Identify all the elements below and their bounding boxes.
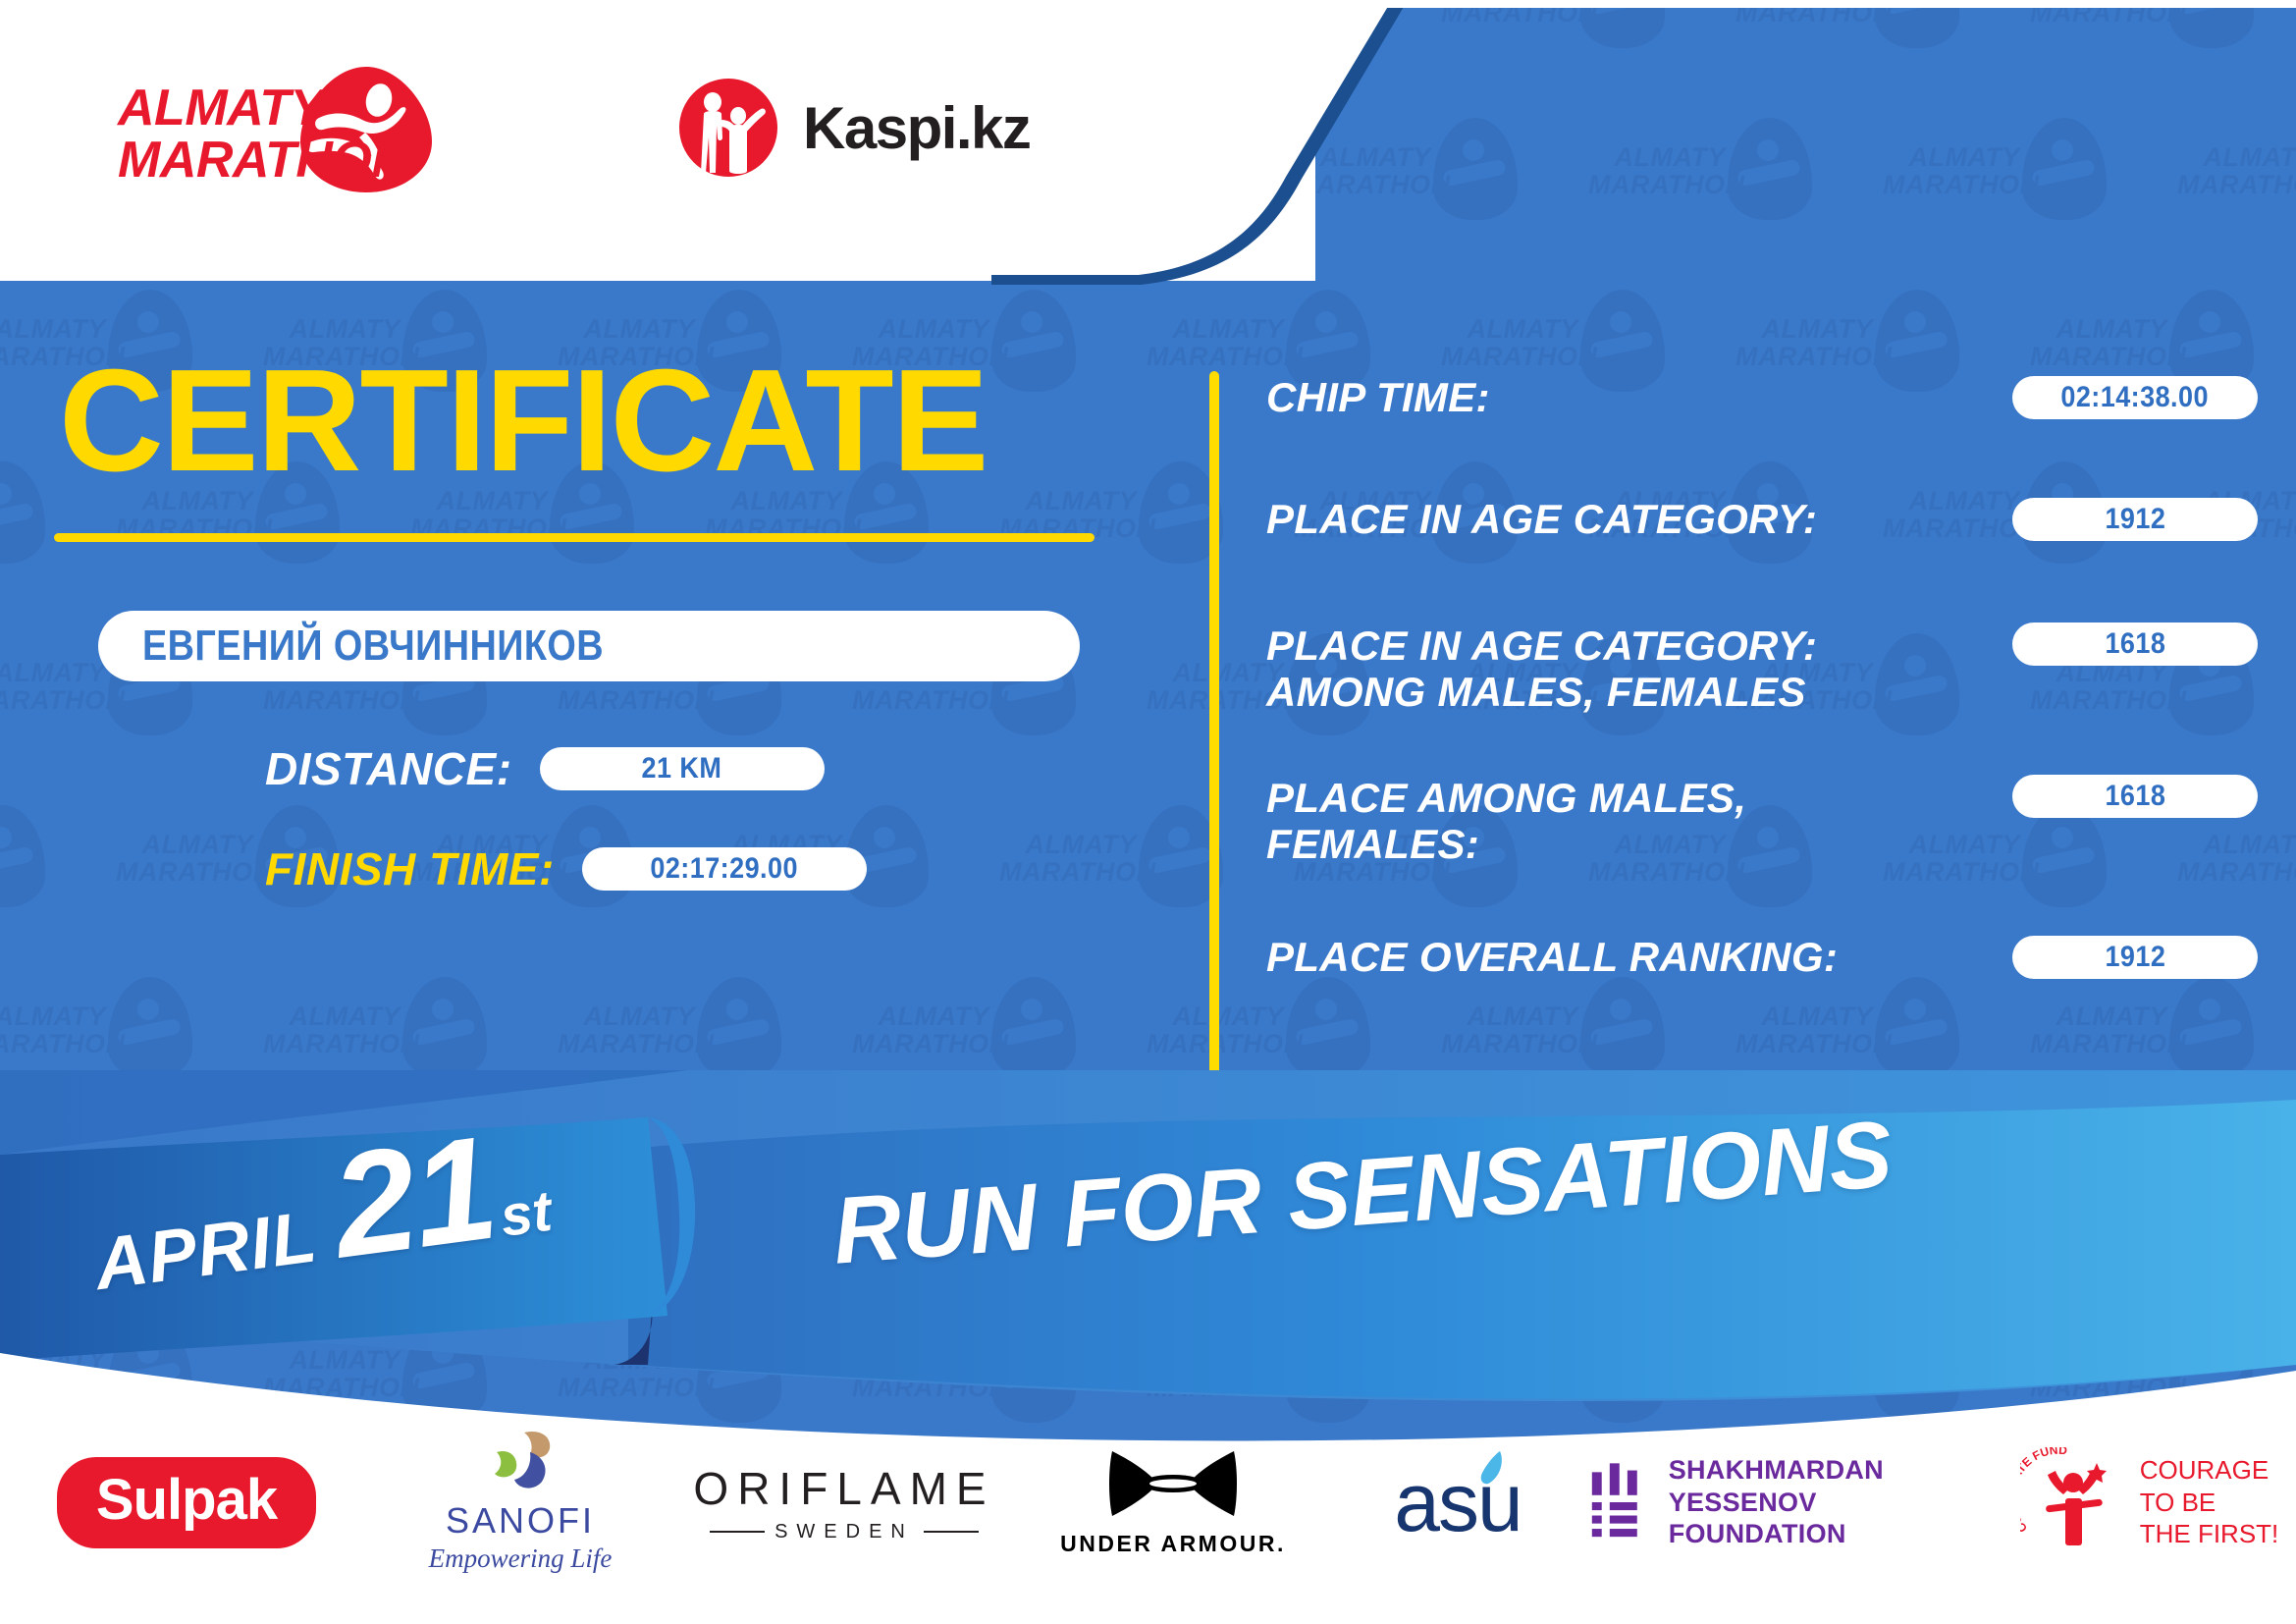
oriflame-wordmark: ORIFLAME [693, 1462, 994, 1515]
sponsor-corporate-fund: CORPORATE FUND COURAGE TO BE THE FIRST! [2002, 1434, 2296, 1571]
finish-time-value: 02:17:29.00 [650, 852, 798, 886]
courage-slogan: COURAGE TO BE THE FIRST! [2140, 1454, 2279, 1550]
under-armour-icon [1106, 1447, 1240, 1520]
oriflame-rule-left [710, 1531, 765, 1533]
place-age-category-value: 1912 [2105, 503, 2165, 536]
watermark-tile: ALMATYMARATHON [2022, 0, 2296, 113]
runner-name-field: ЕВГЕНИЙ ОВЧИННИКОВ [98, 611, 1080, 681]
sanofi-wordmark: SANOFI [429, 1500, 613, 1542]
field-finish-time: FINISH TIME: 02:17:29.00 [265, 842, 1158, 895]
watermark-drop-icon [402, 977, 487, 1079]
header-curve-shape [991, 0, 1679, 295]
chip-time-pill: 02:14:38.00 [2012, 376, 2258, 419]
courage-line-3: THE FIRST! [2140, 1518, 2279, 1550]
label-line-1: PLACE IN AGE CATEGORY: [1266, 623, 1817, 669]
place-age-category-among-pill: 1618 [2012, 623, 2258, 666]
event-month: APRIL [90, 1194, 322, 1306]
kaspi-wordmark: Kaspi.kz [803, 94, 1030, 162]
stat-row-place-among-males-females: PLACE AMONG MALES, FEMALES: 1618 [1266, 771, 2258, 868]
place-age-category-pill: 1912 [2012, 498, 2258, 541]
page-title: CERTIFICATE [59, 349, 1158, 494]
watermark-tile: ALMATYMARATHON [2169, 113, 2296, 285]
yessenov-bars-icon [1590, 1455, 1647, 1549]
top-edge-strip [0, 0, 2296, 8]
sponsor-sulpak: Sulpak [0, 1434, 373, 1571]
place-age-category-label: PLACE IN AGE CATEGORY: [1266, 492, 1817, 542]
sponsor-strip: Sulpak SANOFI Empowering Life ORIFLAME S… [0, 1404, 2296, 1600]
watermark-text: ALMATYMARATHON [1441, 316, 1578, 370]
sponsor-yessenov-foundation: SHAKHMARDAN YESSENOV FOUNDATION [1590, 1434, 2002, 1571]
watermark-drop-icon [2022, 118, 2107, 220]
watermark-text: ALMATYMARATHON [1735, 316, 1873, 370]
chip-time-value: 02:14:38.00 [2061, 381, 2210, 414]
certificate-canvas: ALMATYMARATHONALMATYMARATHONALMATYMARATH… [0, 0, 2296, 1624]
yessenov-wordmark: SHAKHMARDAN YESSENOV FOUNDATION [1669, 1454, 2002, 1551]
label-line-2: AMONG MALES, FEMALES [1266, 669, 1817, 715]
asu-wordmark: asu [1394, 1455, 1521, 1550]
place-among-males-females-pill: 1618 [2012, 775, 2258, 818]
kaspi-people-icon [677, 77, 779, 179]
place-overall-ranking-label: PLACE OVERALL RANKING: [1266, 930, 1838, 980]
place-overall-ranking-pill: 1912 [2012, 936, 2258, 979]
oriflame-rule-right [924, 1531, 979, 1533]
watermark-text: ALMATYMARATHON [0, 1003, 106, 1057]
logo-line-almaty: ALMATY [118, 82, 407, 135]
almaty-marathon-logo: ALMATY MARATHON [118, 61, 530, 198]
place-age-category-among-label: PLACE IN AGE CATEGORY: AMONG MALES, FEMA… [1266, 619, 1817, 716]
sulpak-wordmark: Sulpak [57, 1457, 316, 1548]
stat-row-place-age-category-among: PLACE IN AGE CATEGORY: AMONG MALES, FEMA… [1266, 619, 2258, 716]
sponsor-oriflame: ORIFLAME SWEDEN [667, 1434, 1021, 1571]
watermark-drop-icon [1728, 118, 1812, 220]
sanofi-mark-icon [475, 1431, 565, 1493]
place-among-males-females-value: 1618 [2105, 780, 2165, 813]
courage-line-2: TO BE [2140, 1487, 2279, 1519]
courage-line-1: COURAGE [2140, 1454, 2279, 1487]
right-column-stats: CHIP TIME: 02:14:38.00 PLACE IN AGE CATE… [1266, 365, 2258, 1031]
watermark-drop-icon [108, 977, 192, 1079]
sanofi-tagline: Empowering Life [429, 1543, 613, 1574]
label-line-1: PLACE AMONG MALES, [1266, 775, 1746, 821]
oriflame-subtitle: SWEDEN [693, 1521, 994, 1543]
kaspi-logo: Kaspi.kz [677, 77, 1030, 179]
sponsor-sanofi: SANOFI Empowering Life [373, 1434, 667, 1571]
event-day-suffix: st [497, 1178, 556, 1250]
under-armour-wordmark: UNDER ARMOUR. [1060, 1531, 1286, 1557]
field-distance: DISTANCE: 21 KM [265, 742, 1158, 795]
stat-row-place-overall-ranking: PLACE OVERALL RANKING: 1912 [1266, 925, 2258, 986]
column-divider [1209, 371, 1219, 1100]
stat-row-place-age-category: PLACE IN AGE CATEGORY: 1912 [1266, 487, 2258, 548]
oriflame-sweden-text: SWEDEN [774, 1521, 914, 1543]
chip-time-label: CHIP TIME: [1266, 370, 1490, 420]
yessenov-line-1: SHAKHMARDAN YESSENOV [1669, 1454, 2002, 1519]
runner-name-value: ЕВГЕНИЙ ОВЧИННИКОВ [142, 622, 604, 671]
corporate-fund-child-icon: CORPORATE FUND [2020, 1447, 2126, 1557]
title-underline [54, 533, 1095, 542]
watermark-text: ALMATYMARATHON [2177, 144, 2296, 198]
watermark-drop-icon [697, 977, 781, 1079]
distance-value: 21 KM [642, 752, 722, 785]
stat-row-chip-time: CHIP TIME: 02:14:38.00 [1266, 365, 2258, 426]
watermark-tile: ALMATYMARATHON [1875, 113, 2169, 285]
finish-time-pill: 02:17:29.00 [582, 847, 867, 891]
sponsor-asu: asu [1325, 1434, 1590, 1571]
logo-line-marathon: MARATHON [118, 135, 407, 187]
place-among-males-females-label: PLACE AMONG MALES, FEMALES: [1266, 771, 1746, 868]
watermark-text: ALMATYMARATHON [1147, 316, 1284, 370]
watermark-text: ALMATYMARATHON [558, 1003, 695, 1057]
yessenov-line-2: FOUNDATION [1669, 1518, 2002, 1550]
watermark-text: ALMATYMARATHON [1883, 144, 2020, 198]
watermark-text: ALMATYMARATHON [2030, 316, 2167, 370]
distance-pill: 21 KM [540, 747, 825, 790]
left-column: CERTIFICATE ЕВГЕНИЙ ОВЧИННИКОВ DISTANCE:… [0, 295, 1158, 895]
watermark-text: ALMATYMARATHON [263, 1003, 400, 1057]
watermark-drop-icon [991, 977, 1076, 1079]
asu-droplet-icon [1476, 1449, 1510, 1489]
almaty-marathon-wordmark: ALMATY MARATHON [118, 82, 407, 187]
watermark-text: ALMATYMARATHON [852, 1003, 989, 1057]
distance-label: DISTANCE: [265, 742, 512, 795]
sponsor-under-armour: UNDER ARMOUR. [1021, 1434, 1325, 1571]
watermark-tile: ALMATYMARATHON [1728, 0, 2022, 113]
event-day: 21 [323, 1103, 504, 1292]
label-line-2: FEMALES: [1266, 821, 1746, 867]
place-age-category-among-value: 1618 [2105, 627, 2165, 661]
finish-time-label: FINISH TIME: [265, 842, 555, 895]
place-overall-ranking-value: 1912 [2105, 941, 2165, 974]
